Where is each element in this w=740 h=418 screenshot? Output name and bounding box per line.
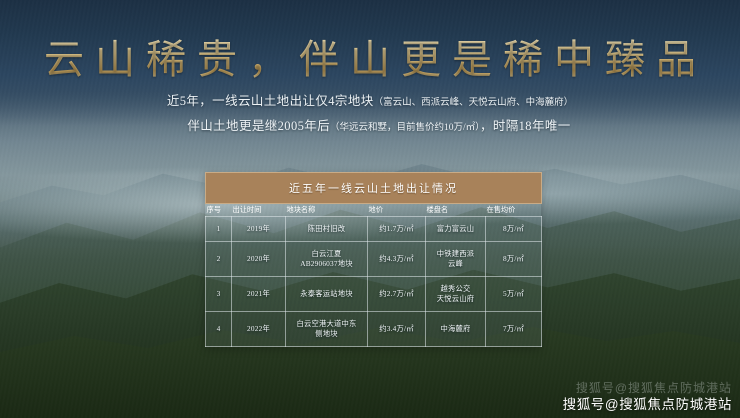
cell-avg: 8万/㎡ bbox=[486, 242, 542, 277]
table-row: 2 2020年 白云江夏AB2906037地块 约4.3万/㎡ 中铁建西派云峰 … bbox=[206, 242, 542, 277]
cell-price: 约2.7万/㎡ bbox=[368, 277, 426, 312]
cell-plot: 陈田村旧改 bbox=[286, 217, 368, 242]
cell-no: 1 bbox=[206, 217, 232, 242]
subtitle-block: 近5年，一线云山土地出让仅4宗地块（富云山、西派云峰、天悦云山府、中海麓府） 伴… bbox=[0, 90, 740, 140]
cell-price: 约3.4万/㎡ bbox=[368, 312, 426, 347]
column-header-no: 序号 bbox=[206, 204, 232, 217]
cell-date: 2020年 bbox=[232, 242, 286, 277]
cell-no: 2 bbox=[206, 242, 232, 277]
column-header-plot: 地块名称 bbox=[286, 204, 368, 217]
cell-plot: 白云空港大道中东侧地块 bbox=[286, 312, 368, 347]
table-row: 1 2019年 陈田村旧改 约1.7万/㎡ 富力富云山 8万/㎡ bbox=[206, 217, 542, 242]
table-row: 4 2022年 白云空港大道中东侧地块 约3.4万/㎡ 中海麓府 7万/㎡ bbox=[206, 312, 542, 347]
cell-no: 3 bbox=[206, 277, 232, 312]
cell-plot: 白云江夏AB2906037地块 bbox=[286, 242, 368, 277]
subtitle-line-2-tail: ，时隔18年唯一 bbox=[480, 119, 571, 133]
column-header-project: 楼盘名 bbox=[426, 204, 486, 217]
table-title-row: 近五年一线云山土地出让情况 bbox=[206, 173, 542, 204]
column-header-price: 地价 bbox=[368, 204, 426, 217]
cell-date: 2022年 bbox=[232, 312, 286, 347]
cell-avg: 8万/㎡ bbox=[486, 217, 542, 242]
cell-date: 2019年 bbox=[232, 217, 286, 242]
cell-project: 中铁建西派云峰 bbox=[426, 242, 486, 277]
subtitle-line-1-main: 近5年，一线云山土地出让仅4宗地块 bbox=[167, 94, 374, 108]
cell-project: 中海麓府 bbox=[426, 312, 486, 347]
page-title: 云山稀贵，伴山更是稀中臻品 bbox=[0, 27, 740, 85]
subtitle-line-1: 近5年，一线云山土地出让仅4宗地块（富云山、西派云峰、天悦云山府、中海麓府） bbox=[0, 90, 740, 115]
cell-plot: 永泰客运站地块 bbox=[286, 277, 368, 312]
column-header-avg: 在售均价 bbox=[486, 204, 542, 217]
cell-avg: 7万/㎡ bbox=[486, 312, 542, 347]
subtitle-line-2-main: 伴山土地更是继2005年后 bbox=[187, 119, 330, 133]
cell-price: 约4.3万/㎡ bbox=[368, 242, 426, 277]
table-header-row: 序号 出让时间 地块名称 地价 楼盘名 在售均价 bbox=[206, 204, 542, 217]
cell-price: 约1.7万/㎡ bbox=[368, 217, 426, 242]
slide-canvas: 云山稀贵，伴山更是稀中臻品 近5年，一线云山土地出让仅4宗地块（富云山、西派云峰… bbox=[0, 0, 740, 418]
cell-date: 2021年 bbox=[232, 277, 286, 312]
subtitle-line-2-note: （华远云和墅，目前售价约10万/㎡） bbox=[330, 123, 480, 133]
cell-project: 富力富云山 bbox=[426, 217, 486, 242]
watermark-label: 搜狐号@搜狐焦点防城港站 bbox=[563, 393, 732, 413]
subtitle-line-1-note: （富云山、西派云峰、天悦云山府、中海麓府） bbox=[374, 98, 574, 108]
column-header-date: 出让时间 bbox=[232, 204, 286, 217]
cell-no: 4 bbox=[206, 312, 232, 347]
table-body: 1 2019年 陈田村旧改 约1.7万/㎡ 富力富云山 8万/㎡ 2 2020年… bbox=[206, 217, 542, 347]
cell-project: 越秀公交天悦云山府 bbox=[426, 277, 486, 312]
land-transfer-table: 近五年一线云山土地出让情况 序号 出让时间 地块名称 地价 楼盘名 在售均价 1… bbox=[205, 172, 541, 347]
table-row: 3 2021年 永泰客运站地块 约2.7万/㎡ 越秀公交天悦云山府 5万/㎡ bbox=[206, 277, 542, 312]
subtitle-line-2: 伴山土地更是继2005年后（华远云和墅，目前售价约10万/㎡），时隔18年唯一 bbox=[0, 115, 740, 140]
table-title: 近五年一线云山土地出让情况 bbox=[206, 173, 542, 204]
cell-avg: 5万/㎡ bbox=[486, 277, 542, 312]
